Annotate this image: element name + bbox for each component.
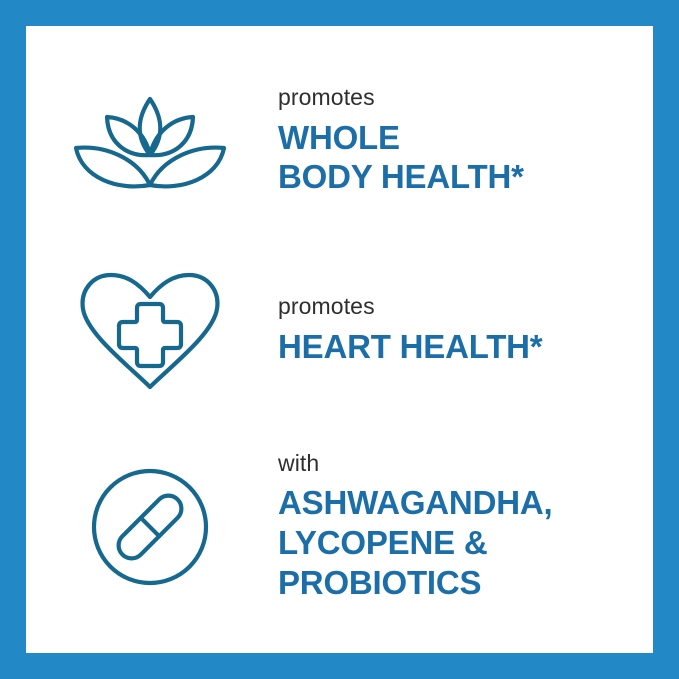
headline-line-1: WHOLE xyxy=(278,118,653,158)
feature-row-heart-health: promotes HEART HEALTH* xyxy=(26,248,653,413)
text-cell-ingredients: with ASHWAGANDHA, LYCOPENE & PROBIOTICS xyxy=(274,451,653,603)
headline-heart-health: HEART HEALTH* xyxy=(278,327,653,367)
text-cell-heart-health: promotes HEART HEALTH* xyxy=(274,294,653,366)
icon-cell-lotus xyxy=(26,85,274,197)
lotus-flower-icon xyxy=(71,85,229,197)
headline-line-1: HEART HEALTH* xyxy=(278,327,653,367)
headline-whole-body-health: WHOLE BODY HEALTH* xyxy=(278,118,653,197)
icon-cell-pill xyxy=(26,467,274,587)
headline-line-3: PROBIOTICS xyxy=(278,563,653,603)
text-cell-whole-body-health: promotes WHOLE BODY HEALTH* xyxy=(274,85,653,197)
feature-row-ingredients: with ASHWAGANDHA, LYCOPENE & PROBIOTICS xyxy=(26,424,653,629)
product-feature-poster: promotes WHOLE BODY HEALTH* xyxy=(0,0,679,679)
pill-in-circle-icon xyxy=(90,467,210,587)
feature-row-whole-body-health: promotes WHOLE BODY HEALTH* xyxy=(26,48,653,234)
headline-line-1: ASHWAGANDHA, xyxy=(278,483,653,523)
eyebrow-label: promotes xyxy=(278,294,653,320)
icon-cell-heart xyxy=(26,270,274,392)
eyebrow-label: with xyxy=(278,451,653,477)
heart-with-cross-icon xyxy=(77,270,223,392)
poster-content-area: promotes WHOLE BODY HEALTH* xyxy=(26,26,653,653)
headline-line-2: BODY HEALTH* xyxy=(278,157,653,197)
eyebrow-label: promotes xyxy=(278,85,653,111)
headline-line-2: LYCOPENE & xyxy=(278,523,653,563)
headline-ingredients: ASHWAGANDHA, LYCOPENE & PROBIOTICS xyxy=(278,483,653,602)
